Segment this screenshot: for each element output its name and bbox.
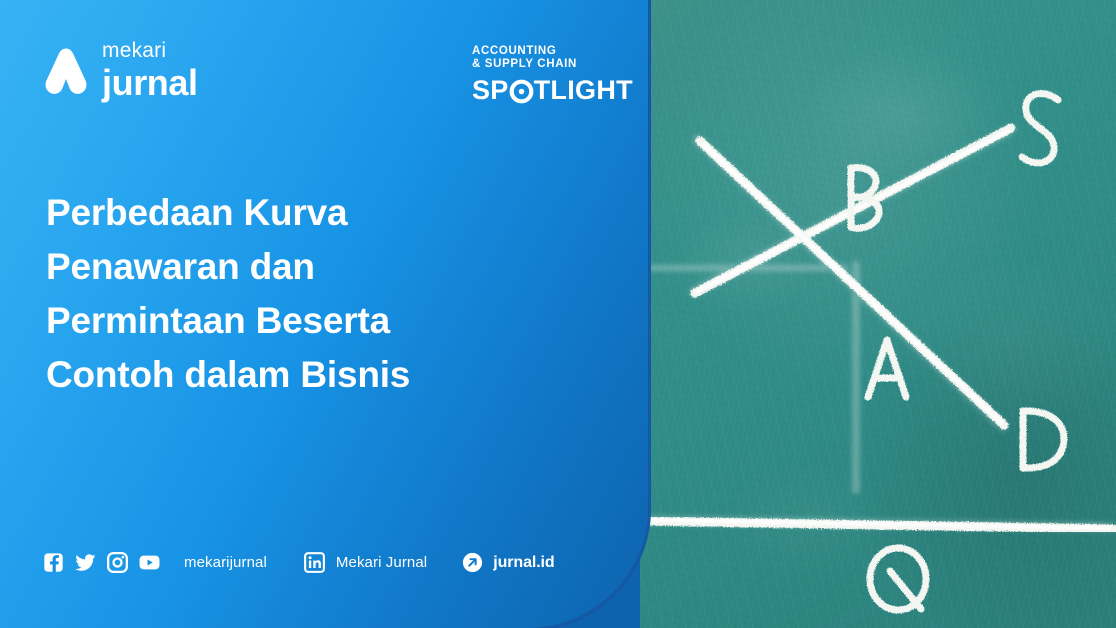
title-line-4: Contoh dalam Bisnis bbox=[46, 348, 606, 402]
facebook-icon[interactable] bbox=[43, 552, 64, 573]
blackboard-photo bbox=[640, 0, 1116, 628]
title-line-2: Penawaran dan bbox=[46, 240, 606, 294]
title-line-1: Perbedaan Kurva bbox=[46, 186, 606, 240]
mekari-arrow-mark-icon bbox=[43, 46, 89, 96]
chalk-drawing bbox=[640, 0, 1116, 628]
website-url: jurnal.id bbox=[493, 554, 554, 572]
logo-wordmark: mekari jurnal bbox=[102, 40, 198, 101]
spotlight-line-1: ACCOUNTING bbox=[472, 45, 633, 58]
mekari-jurnal-logo[interactable]: mekari jurnal bbox=[43, 40, 198, 101]
spotlight-text-sp: SP bbox=[472, 75, 509, 106]
linkedin-group[interactable]: Mekari Jurnal bbox=[304, 552, 427, 573]
logo-text-mekari: mekari bbox=[102, 40, 198, 61]
chalk-label-D bbox=[1023, 411, 1064, 468]
chalk-label-S bbox=[1022, 93, 1058, 162]
chalk-label-Q bbox=[870, 548, 926, 610]
page-title: Perbedaan Kurva Penawaran dan Permintaan… bbox=[46, 186, 606, 402]
arrow-up-right-circle-icon[interactable] bbox=[462, 552, 483, 573]
title-line-3: Permintaan Beserta bbox=[46, 294, 606, 348]
quantity-axis-line bbox=[644, 520, 1114, 529]
chalk-label-A bbox=[868, 340, 906, 397]
website-group[interactable]: jurnal.id bbox=[462, 552, 554, 573]
spotlight-text-tlight: TLIGHT bbox=[534, 75, 633, 106]
poster-canvas: mekari jurnal ACCOUNTING & SUPPLY CHAIN … bbox=[0, 0, 1116, 628]
spotlight-target-o-icon bbox=[509, 79, 534, 104]
linkedin-icon[interactable] bbox=[304, 552, 325, 573]
spotlight-wordmark: SP TLIGHT bbox=[472, 75, 633, 106]
youtube-icon[interactable] bbox=[139, 552, 160, 573]
social-icon-group: mekarijurnal bbox=[43, 552, 267, 573]
twitter-icon[interactable] bbox=[75, 552, 96, 573]
footer-bar: mekarijurnal Mekari Jurnal jurnal.id bbox=[43, 552, 555, 573]
social-handle: mekarijurnal bbox=[184, 554, 267, 571]
spotlight-line-2: & SUPPLY CHAIN bbox=[472, 58, 633, 71]
logo-text-jurnal: jurnal bbox=[102, 65, 198, 101]
instagram-icon[interactable] bbox=[107, 552, 128, 573]
linkedin-name: Mekari Jurnal bbox=[336, 554, 427, 571]
spotlight-lockup: ACCOUNTING & SUPPLY CHAIN SP TLIGHT bbox=[472, 45, 633, 106]
